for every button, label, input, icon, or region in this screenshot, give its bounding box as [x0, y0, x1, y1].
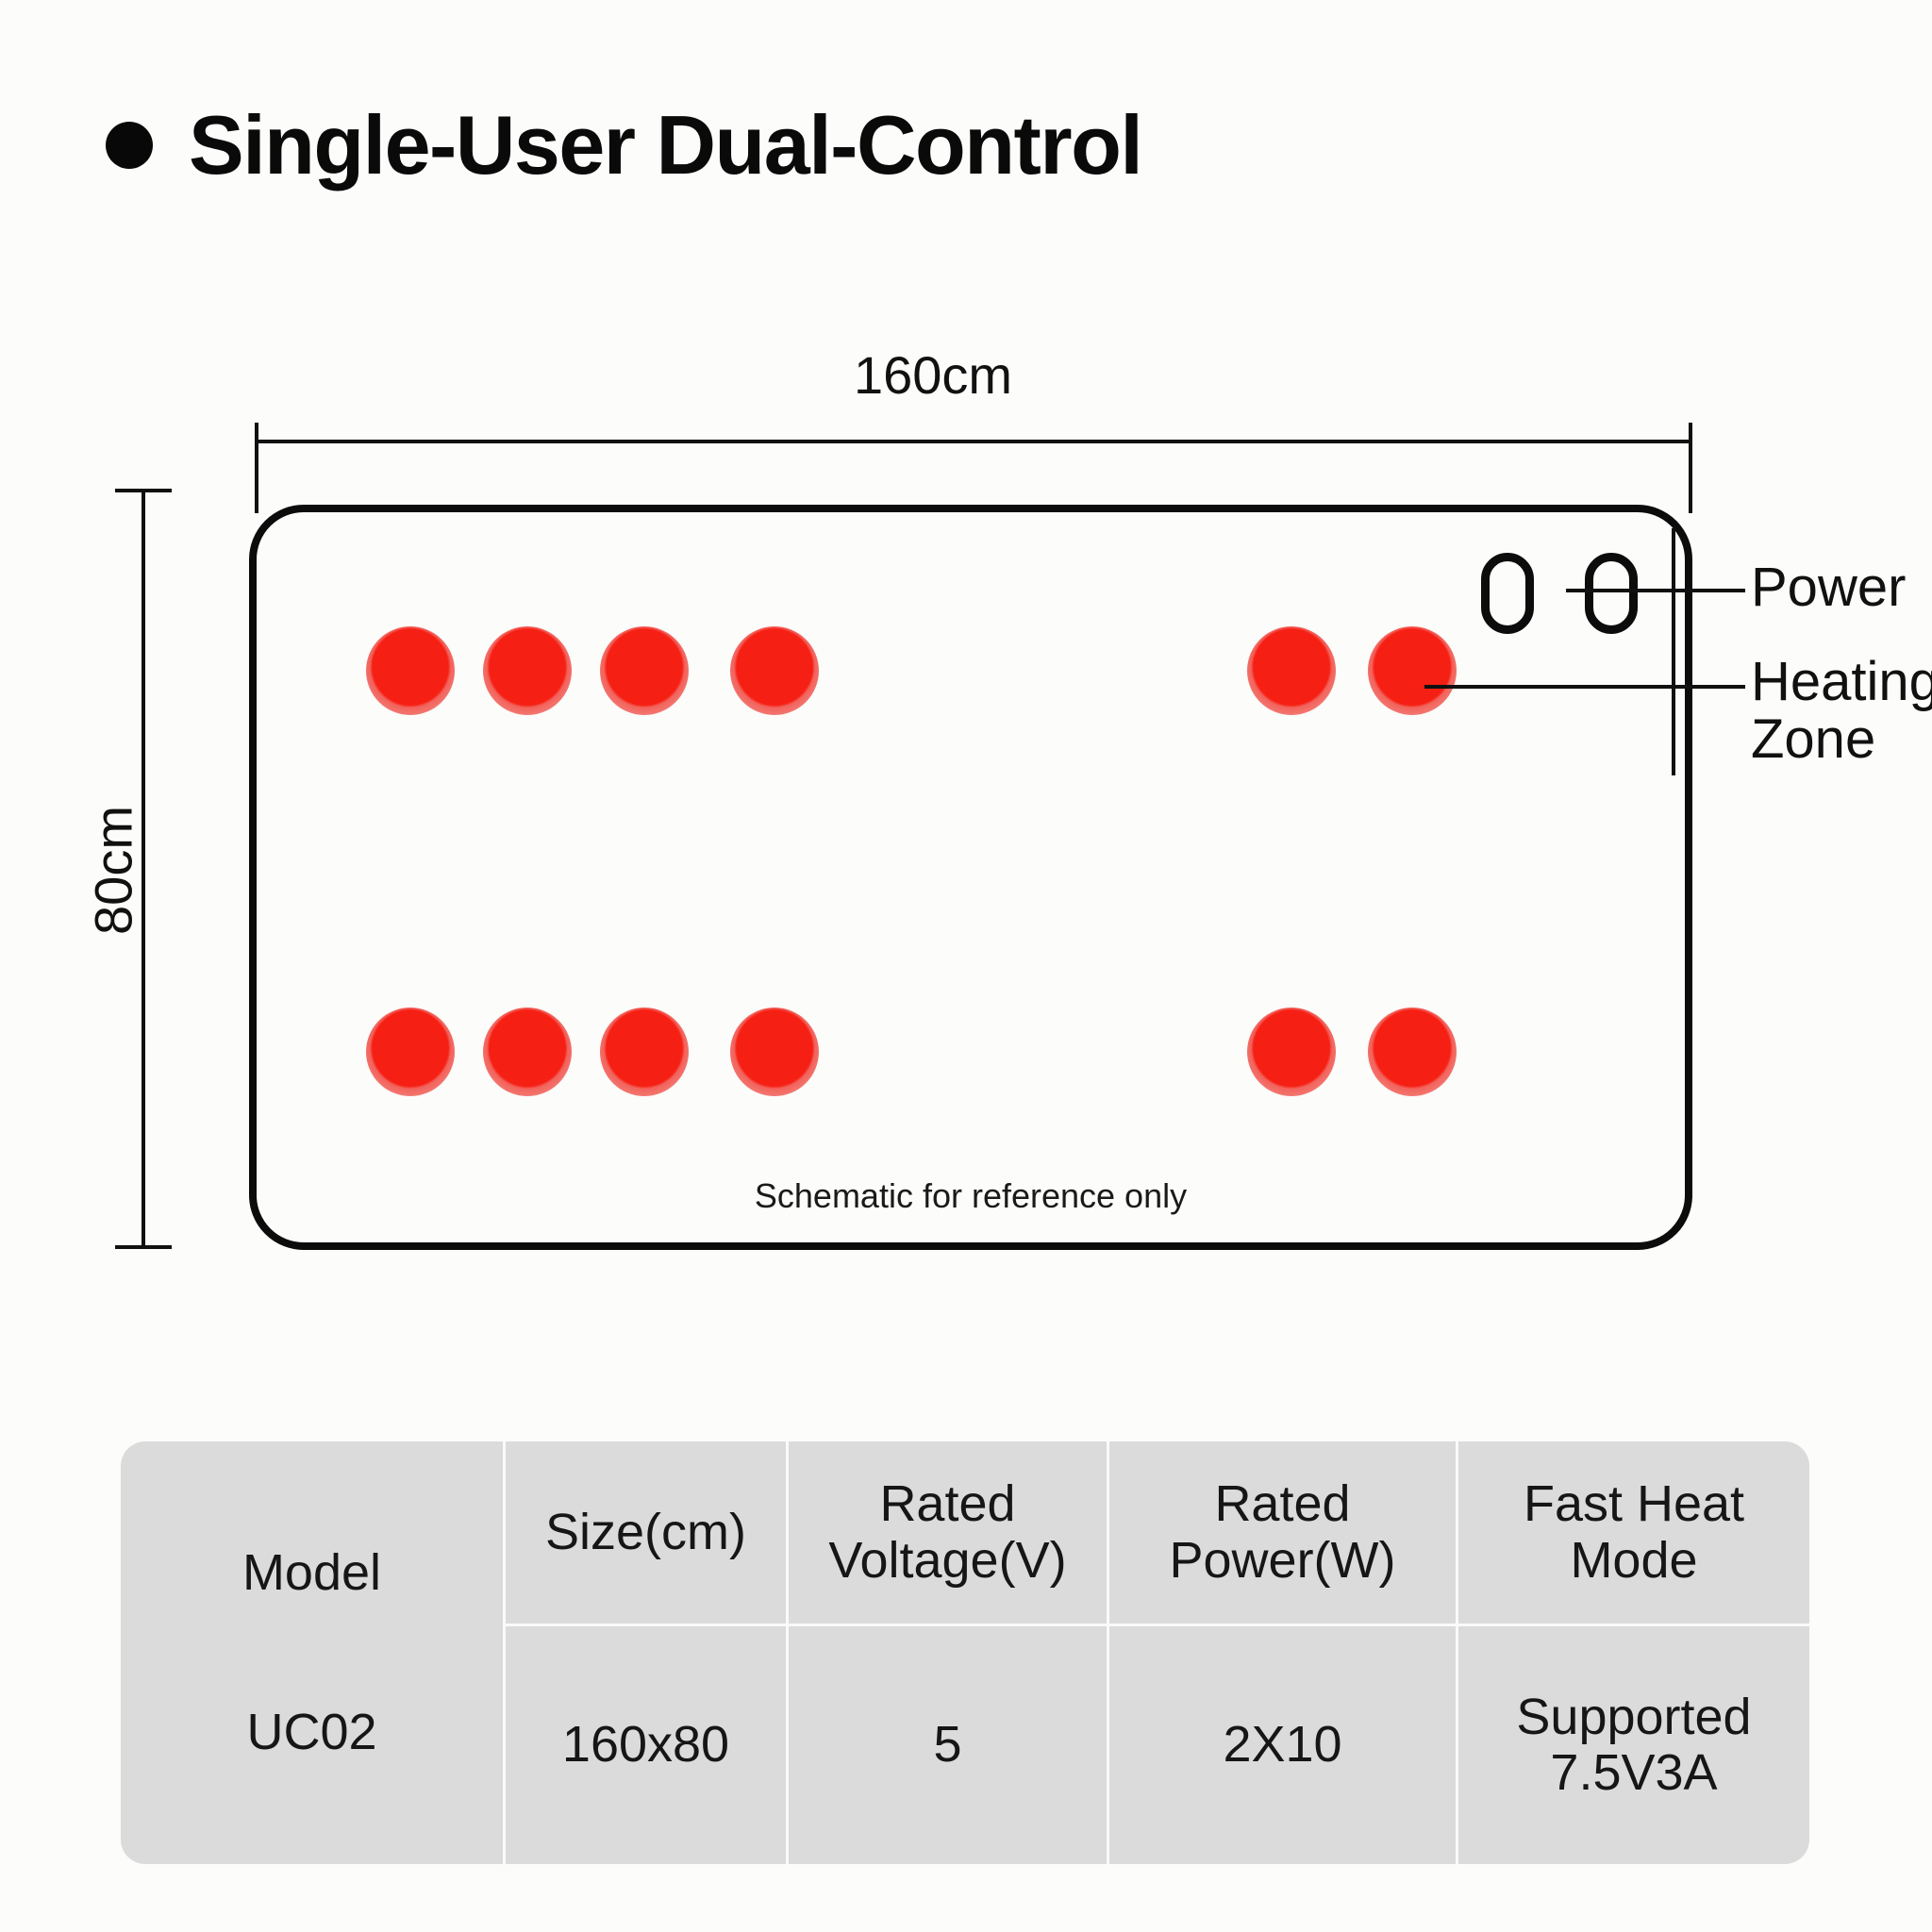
- power-callout-leader-line: [1566, 589, 1745, 592]
- heating-zone-callout-leader-tick: [1672, 651, 1675, 775]
- power-button-icon[interactable]: [1585, 553, 1638, 634]
- table-cell-model-value: UC02: [246, 1705, 376, 1760]
- table-cell-model: Model UC02: [121, 1441, 503, 1864]
- table-header-size: Size(cm): [503, 1441, 786, 1626]
- heating-zone-dot: [1368, 1008, 1457, 1096]
- heating-zone-dot: [1247, 626, 1336, 715]
- width-dimension-tick-left: [255, 423, 258, 513]
- heating-zone-dot: [483, 626, 572, 715]
- heating-zone-dot: [366, 626, 455, 715]
- table-cell-fast-heat-mode-value: Supported 7.5V3A: [1456, 1626, 1809, 1864]
- height-dimension-tick-bottom: [115, 1245, 172, 1249]
- width-dimension-tick-right: [1689, 423, 1692, 513]
- heating-zone-dot: [600, 626, 689, 715]
- heating-zone-callout-label: Heating Zone: [1751, 653, 1932, 769]
- specification-table: Model UC02 Size(cm) Rated Voltage(V) Rat…: [121, 1441, 1809, 1864]
- table-header-model: Model: [242, 1545, 381, 1601]
- heating-zone-dot: [366, 1008, 455, 1096]
- schematic-caption: Schematic for reference only: [257, 1176, 1685, 1216]
- heating-zone-dot: [600, 1008, 689, 1096]
- heating-zone-callout-leader-line: [1424, 685, 1745, 689]
- height-dimension-label: 80cm: [83, 786, 144, 956]
- heating-zone-dot: [730, 626, 819, 715]
- table-header-fast-heat-mode: Fast Heat Mode: [1456, 1441, 1809, 1626]
- table-cell-size-value: 160x80: [503, 1626, 786, 1864]
- heating-zone-dot: [1247, 1008, 1336, 1096]
- power-button-icon[interactable]: [1481, 553, 1534, 634]
- heating-mat-outline: Schematic for reference only: [249, 505, 1692, 1250]
- power-callout-leader-tick: [1672, 528, 1675, 651]
- product-schematic-diagram: 160cm 80cm Schematic for reference only …: [0, 0, 1932, 1368]
- table-cell-voltage-value: 5: [786, 1626, 1107, 1864]
- table-header-power: Rated Power(W): [1107, 1441, 1456, 1626]
- power-callout-label: Power: [1751, 558, 1906, 616]
- table-header-voltage: Rated Voltage(V): [786, 1441, 1107, 1626]
- table-cell-power-value: 2X10: [1107, 1626, 1456, 1864]
- heating-zone-dot: [483, 1008, 572, 1096]
- heating-zone-dot: [1368, 626, 1457, 715]
- heating-zone-dot: [730, 1008, 819, 1096]
- width-dimension-label: 160cm: [854, 344, 1012, 406]
- width-dimension-line: [255, 440, 1692, 443]
